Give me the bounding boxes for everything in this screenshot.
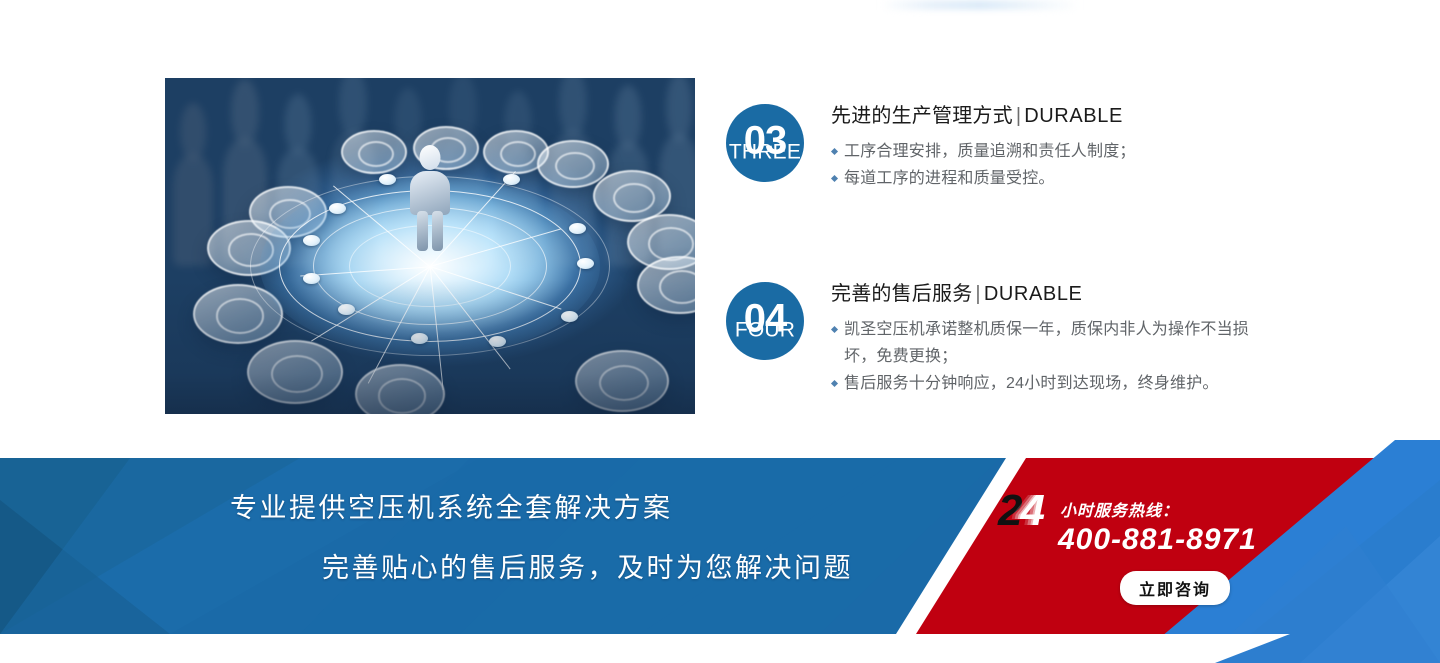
network-node: [577, 258, 594, 269]
feature-title-separator: |: [1016, 105, 1021, 127]
hotline-block: 24 小时服务热线： 400-881-8971 立即咨询: [998, 495, 1258, 529]
hero-image: [165, 78, 695, 414]
hotline-digit-2: 2: [998, 486, 1020, 535]
feature-badge-03: 03 THREE: [726, 104, 804, 182]
network-node: [303, 235, 320, 246]
network-node: [569, 223, 586, 234]
banner-slogan: 专业提供空压机系统全套解决方案 完善贴心的售后服务，及时为您解决问题: [230, 492, 960, 585]
feature-text-03: 先进的生产管理方式|DURABLE 工序合理安排，质量追溯和责任人制度； 每道工…: [831, 104, 1251, 192]
hotline-digit-4: 4: [1020, 486, 1042, 535]
feature-title-03: 先进的生产管理方式|DURABLE: [831, 104, 1251, 129]
features-section: 03 THREE 先进的生产管理方式|DURABLE 工序合理安排，质量追溯和责…: [0, 0, 1440, 440]
network-node: [379, 174, 396, 185]
hotline-24-row: 24 小时服务热线： 400-881-8971: [998, 495, 1258, 529]
feature-bullets-03: 工序合理安排，质量追溯和责任人制度； 每道工序的进程和质量受控。: [831, 138, 1251, 192]
network-node: [503, 174, 520, 185]
feature-text-04: 完善的售后服务|DURABLE 凯圣空压机承诺整机质保一年，质保内非人为操作不当…: [831, 282, 1251, 397]
feature-title-separator: |: [975, 283, 980, 305]
feature-title-04: 完善的售后服务|DURABLE: [831, 282, 1251, 307]
banner-content: 专业提供空压机系统全套解决方案 完善贴心的售后服务，及时为您解决问题 24 小时…: [0, 440, 1440, 663]
bottom-cta-banner: 专业提供空压机系统全套解决方案 完善贴心的售后服务，及时为您解决问题 24 小时…: [0, 440, 1440, 663]
page-root: 03 THREE 先进的生产管理方式|DURABLE 工序合理安排，质量追溯和责…: [0, 0, 1440, 663]
slogan-line-1: 专业提供空压机系统全套解决方案: [230, 492, 960, 524]
feature-title-en: DURABLE: [1024, 105, 1123, 127]
badge-word: FOUR: [735, 320, 795, 341]
feature-item-03: 03 THREE 先进的生产管理方式|DURABLE 工序合理安排，质量追溯和责…: [726, 104, 1251, 192]
badge-word: THREE: [729, 142, 801, 163]
feature-badge-04: 04 FOUR: [726, 282, 804, 360]
gear-icon: [341, 130, 407, 174]
feature-bullet: 工序合理安排，质量追溯和责任人制度；: [831, 138, 1251, 165]
hotline-24-graphic: 24: [998, 489, 1043, 533]
feature-title-cn: 完善的售后服务: [831, 283, 972, 305]
feature-title-cn: 先进的生产管理方式: [831, 105, 1013, 127]
feature-bullets-04: 凯圣空压机承诺整机质保一年，质保内非人为操作不当损坏，免费更换； 售后服务十分钟…: [831, 316, 1251, 397]
hotline-phone-number[interactable]: 400-881-8971: [1058, 523, 1257, 557]
gear-icon: [537, 140, 609, 188]
feature-bullet: 售后服务十分钟响应，24小时到达现场，终身维护。: [831, 370, 1251, 397]
hotline-label: 小时服务热线：: [1060, 497, 1179, 521]
person-avatar-icon: [407, 145, 453, 253]
photo-vignette: [165, 280, 695, 414]
feature-title-en: DURABLE: [984, 283, 1083, 305]
feature-bullet: 凯圣空压机承诺整机质保一年，质保内非人为操作不当损坏，免费更换；: [831, 316, 1251, 370]
network-node: [329, 203, 346, 214]
feature-bullet: 每道工序的进程和质量受控。: [831, 165, 1251, 192]
feature-item-04: 04 FOUR 完善的售后服务|DURABLE 凯圣空压机承诺整机质保一年，质保…: [726, 282, 1251, 397]
slogan-line-2: 完善贴心的售后服务，及时为您解决问题: [230, 552, 960, 584]
consult-now-button[interactable]: 立即咨询: [1120, 571, 1230, 605]
